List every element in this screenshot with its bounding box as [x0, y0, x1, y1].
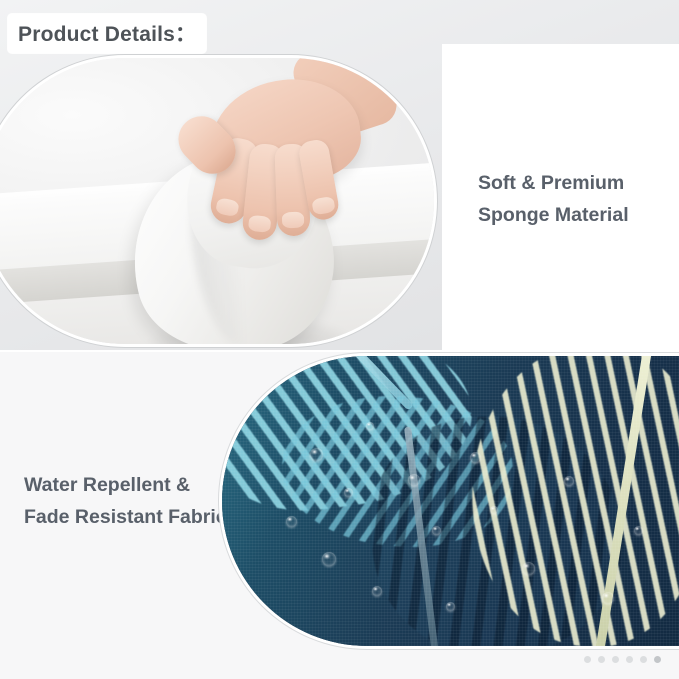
hand	[180, 104, 376, 244]
pagination-dot[interactable]	[612, 656, 619, 663]
water-droplet	[432, 526, 441, 535]
fingernail	[248, 215, 272, 233]
caption-line-1: Water Repellent &	[24, 470, 239, 502]
water-droplet	[408, 474, 420, 486]
water-droplet	[446, 602, 455, 611]
water-droplet	[322, 552, 336, 566]
water-droplet	[634, 526, 643, 535]
photo-frame-sponge	[0, 58, 434, 344]
photo-frame-fabric	[222, 356, 679, 646]
water-droplet	[522, 562, 535, 575]
water-droplet	[372, 586, 382, 596]
pagination-dot[interactable]	[640, 656, 647, 663]
caption-line-2: Sponge Material	[478, 200, 668, 232]
water-droplet	[344, 488, 353, 497]
caption-sponge-material: Soft & Premium Sponge Material	[478, 168, 668, 231]
fingernail	[215, 197, 240, 217]
page-title: Product Details：	[18, 18, 196, 48]
water-droplet	[602, 592, 614, 604]
pagination-dot[interactable]	[598, 656, 605, 663]
water-droplet	[366, 422, 374, 430]
water-droplet	[490, 506, 498, 514]
fingernail	[282, 212, 305, 229]
panel-fabric: Water Repellent & Fade Resistant Fabric	[0, 352, 679, 679]
pagination-dot-active[interactable]	[654, 656, 661, 663]
product-details-image: Soft & Premium Sponge Material Water Rep…	[0, 0, 679, 679]
fingernail	[311, 196, 335, 216]
caption-line-2: Fade Resistant Fabric	[24, 502, 239, 534]
header-chip: Product Details：	[8, 14, 206, 53]
photo-fabric-closeup	[222, 356, 679, 646]
water-droplet	[310, 448, 323, 461]
pagination-dots[interactable]	[584, 656, 661, 663]
water-droplet	[470, 452, 481, 463]
photo-hand-squeezing-foam	[0, 58, 434, 344]
caption-line-1: Soft & Premium	[478, 168, 668, 200]
water-droplet	[286, 516, 297, 527]
pagination-dot[interactable]	[626, 656, 633, 663]
pagination-dot[interactable]	[584, 656, 591, 663]
header: Product Details：	[8, 14, 206, 53]
water-droplet	[564, 476, 574, 486]
caption-card-sponge: Soft & Premium Sponge Material	[442, 44, 679, 352]
caption-fabric: Water Repellent & Fade Resistant Fabric	[24, 470, 239, 533]
